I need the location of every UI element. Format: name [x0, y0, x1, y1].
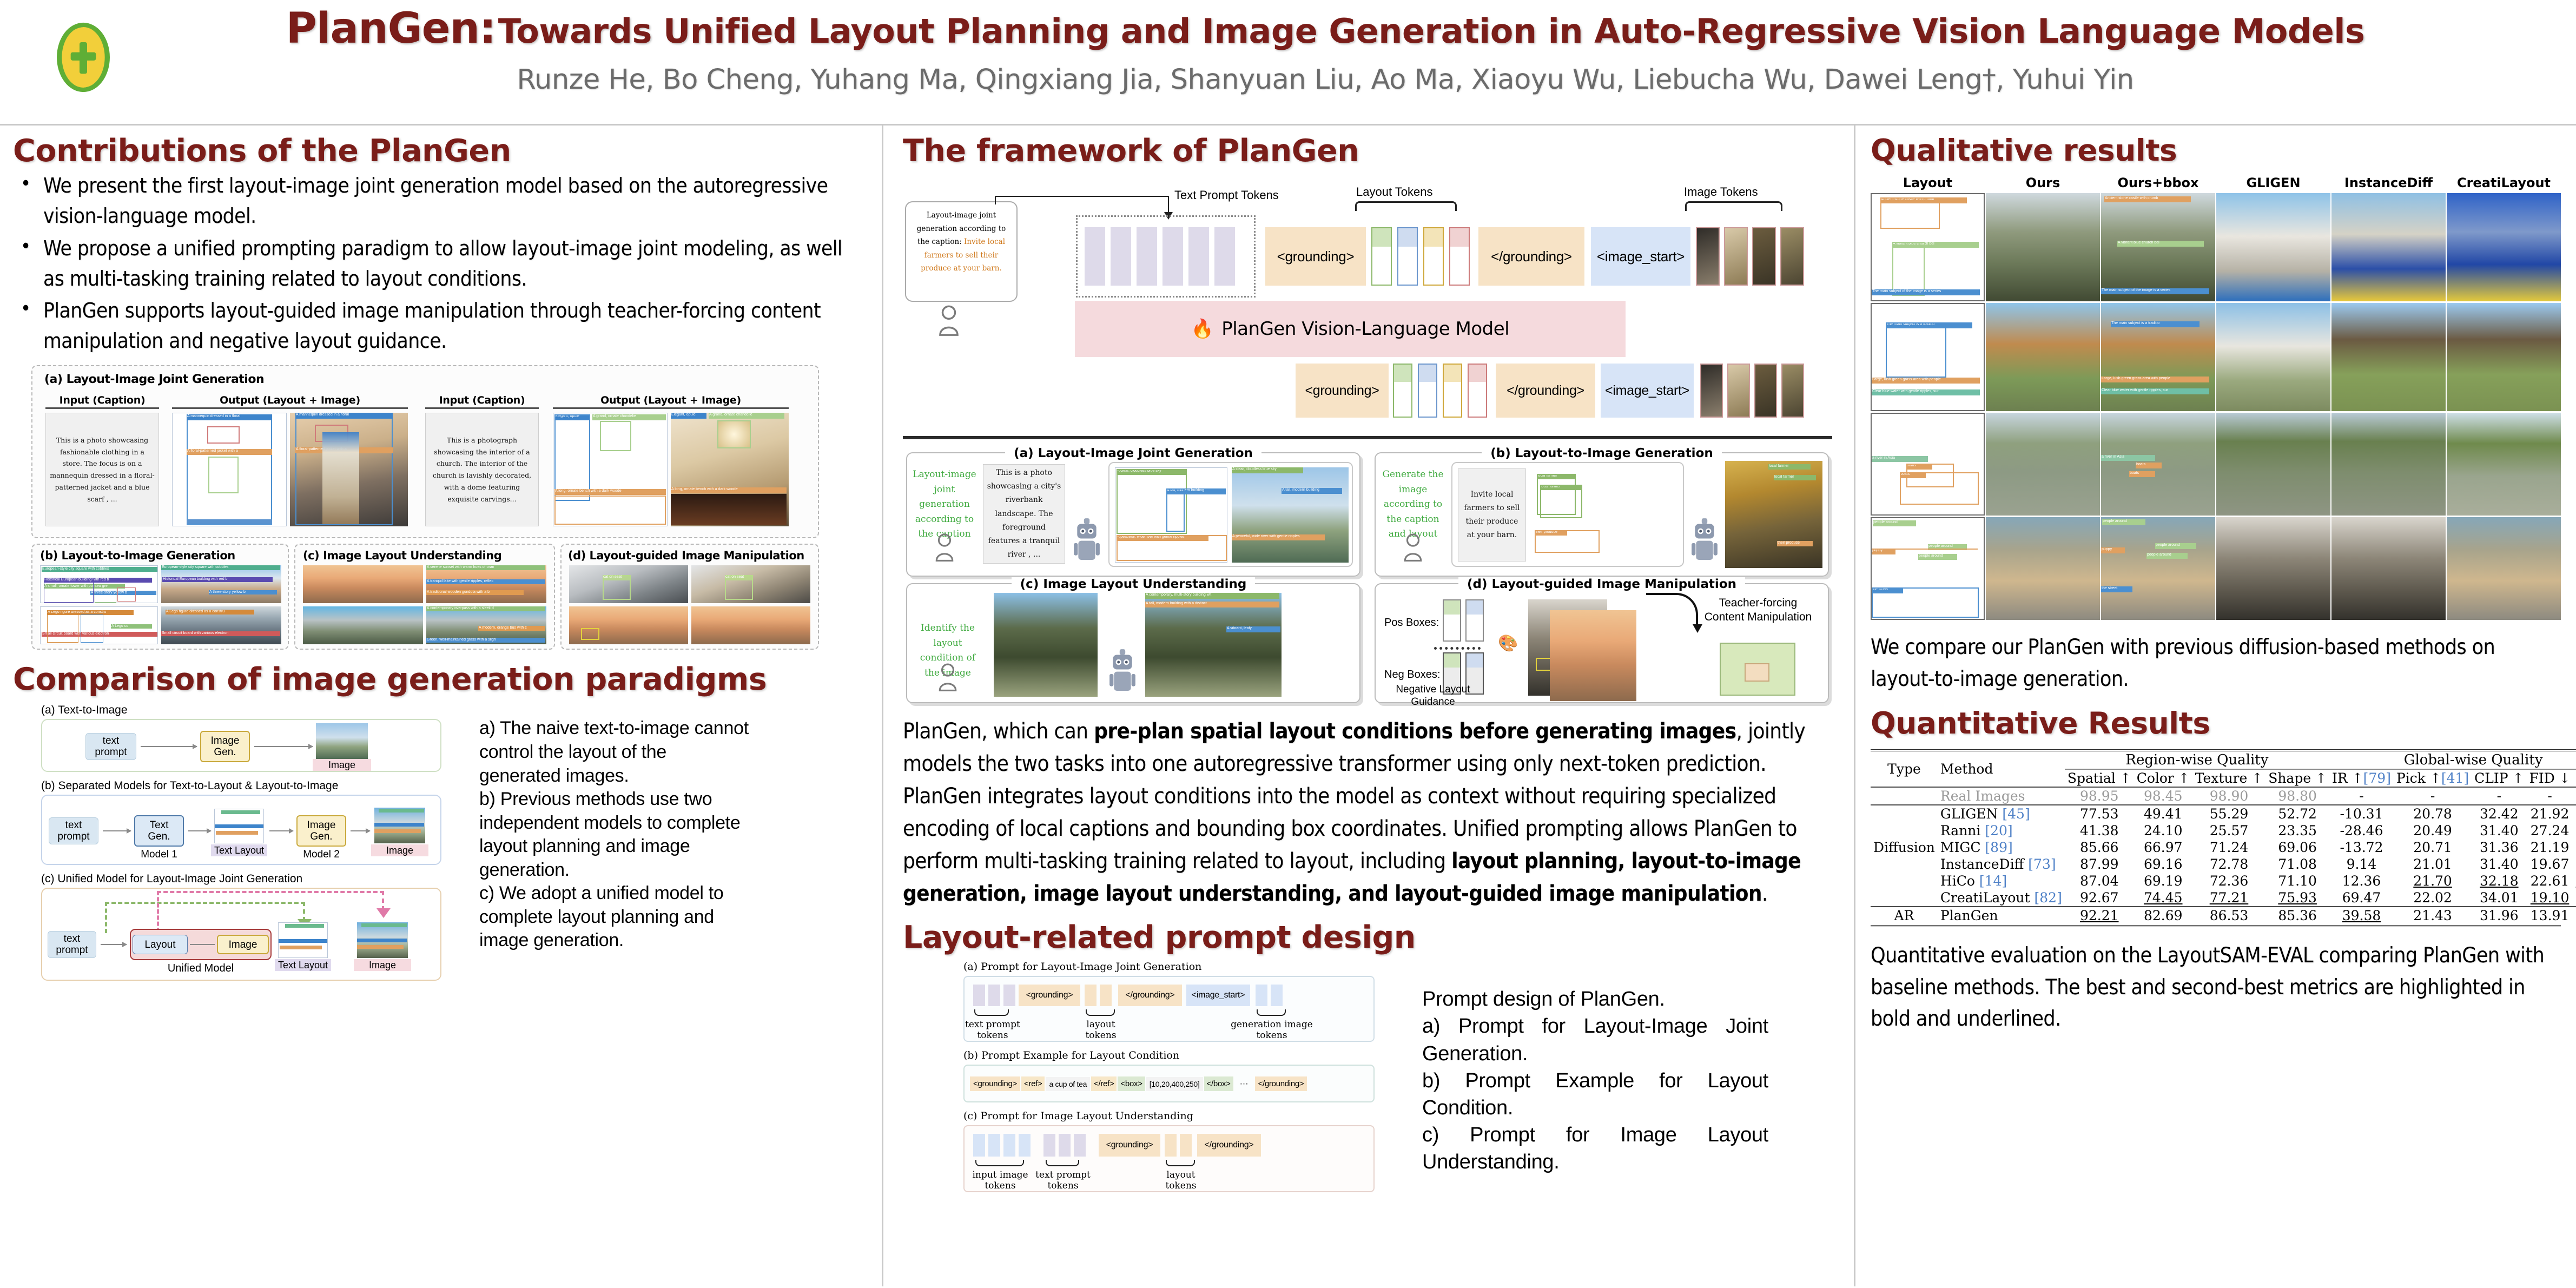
- framework-a-caption: This is a photo showcasing a city's rive…: [983, 464, 1065, 564]
- image-token-chips: [1696, 227, 1804, 286]
- tok-ref-text: a cup of tea: [1046, 1077, 1090, 1091]
- layout-tag: Clear blue water with gentle ripples, su…: [1872, 389, 1980, 395]
- text-prompt-box-b: text prompt: [49, 817, 98, 844]
- td-val: 87.04: [2065, 873, 2134, 889]
- td-val: 66.97: [2134, 839, 2192, 856]
- text-layout-preview-b: [214, 809, 264, 843]
- quantitative-table: Type Method Region-wise Quality Global-w…: [1871, 749, 2576, 924]
- prompt-bubble: Layout-image joint generation according …: [905, 201, 1018, 302]
- framework-c-input-image: [994, 593, 1098, 697]
- layout-tag: their produce: [1777, 541, 1813, 546]
- output-sequence-row: <grounding> </grounding> <image_start>: [903, 364, 1832, 424]
- td-val: 23.35: [2265, 822, 2329, 839]
- th-spatial: Spatial ↑: [2065, 769, 2134, 787]
- tok-grounding-close: </grounding>: [1255, 1076, 1307, 1091]
- generated-image-b2: A Lego figure dressed as a constru Small…: [161, 606, 281, 644]
- model-bar-label: PlanGen Vision-Language Model: [1221, 318, 1509, 340]
- td-val: 34.01: [2472, 889, 2526, 907]
- td-val: 21.43: [2394, 907, 2472, 924]
- td-val: 19.67: [2526, 856, 2573, 873]
- qualitative-col-headers: Layout Ours Ours+bbox GLIGEN InstanceDif…: [1871, 175, 2561, 190]
- layout-tag: Historical European building with red b: [162, 577, 273, 582]
- td-val: 69.06: [2265, 839, 2329, 856]
- td-val: -: [2394, 787, 2472, 805]
- td-val: 71.08: [2265, 856, 2329, 873]
- prompt-b-label: (b) Prompt Example for Layout Condition: [963, 1049, 1396, 1061]
- creatilayout-cell: [2447, 517, 2561, 620]
- td-val: 98.90: [2192, 787, 2265, 805]
- table-row: InstanceDiff [73]87.9969.1672.7871.089.1…: [1871, 856, 2576, 873]
- layout-token-chips: [1371, 227, 1470, 286]
- td-val: 71.24: [2192, 839, 2265, 856]
- source-image-d1: cat on seat: [569, 565, 688, 603]
- layout-tag: people around: [2102, 519, 2145, 525]
- layout-preview-b2: A Lego figure dressed as a constru A Leg…: [40, 606, 158, 644]
- td-method: InstanceDiff [73]: [1938, 856, 2065, 873]
- layout-tag: A tall, modern building with a distinct: [1145, 602, 1279, 607]
- qualitative-row: a river in Asia boats boats a river in A…: [1871, 413, 2561, 516]
- td-val: 20.02: [2573, 856, 2576, 873]
- image-token-chips-out: [1700, 364, 1804, 418]
- framework-panel-b: (b) Layout-to-Image Generation Generate …: [1375, 452, 1829, 577]
- col-header-input-2: Input (Caption): [422, 394, 542, 406]
- td-val: 19.31: [2573, 907, 2576, 924]
- model-bar: 🔥 PlanGen Vision-Language Model: [1075, 301, 1626, 357]
- layout-subbox: Layout: [133, 935, 188, 954]
- layout-cell: a river in Asia boats boats: [1871, 413, 1985, 516]
- plangen-logo-icon: [51, 19, 115, 95]
- framework-subpanels: (a) Layout-Image Joint Generation Layout…: [903, 436, 1832, 706]
- list-item: We propose a unified prompting paradigm …: [13, 234, 860, 294]
- prompt-c-label: (c) Prompt for Image Layout Understandin…: [963, 1110, 1396, 1122]
- td-val: 86.53: [2192, 907, 2265, 924]
- td-val: 20.15: [2573, 873, 2576, 889]
- image-tag-a: Image: [313, 759, 371, 771]
- layout-tag: A tall, modern building: [1282, 488, 1342, 494]
- tok-box-coords: [10,20,400,250]: [1146, 1077, 1203, 1091]
- grounding-open-chip-out: <grounding>: [1296, 364, 1389, 418]
- layout-preview-2: Elegant, opule A grand, ornate chandelie…: [553, 413, 668, 526]
- comparison-panel-b: text prompt Text Gen. Model 1 Text Layou…: [41, 795, 441, 865]
- col-header-input-1: Input (Caption): [42, 394, 162, 406]
- contributions-list: We present the first layout-image joint …: [13, 171, 860, 356]
- comparison-note-b: b) Previous methods use two independent …: [479, 788, 750, 882]
- framework-panel-c: (c) Image Layout Understanding Identify …: [906, 583, 1360, 703]
- model1-label: Model 1: [134, 849, 184, 861]
- layout-tag: A serene sunset with warm hues of oran: [426, 565, 545, 570]
- td-val: 20.57: [2573, 805, 2576, 822]
- qualitative-caption: We compare our PlanGen with previous dif…: [1871, 632, 2561, 695]
- caption-box-2: This is a photograph showcasing the inte…: [425, 413, 539, 526]
- td-type: AR: [1871, 907, 1938, 924]
- right-column: Qualitative results Layout Ours Ours+bbo…: [1855, 126, 2576, 1286]
- th-method: Method: [1938, 750, 2065, 787]
- poster-header: PlanGen: Towards Unified Layout Planning…: [0, 0, 2576, 126]
- framework-panel-a: (a) Layout-Image Joint Generation Layout…: [906, 452, 1360, 577]
- td-val: 9.14: [2329, 856, 2394, 873]
- framework-b-input: Invite local farmers to sell their produ…: [1451, 462, 1684, 567]
- table-row: CreatiLayout [82]92.6774.4577.2175.9369.…: [1871, 889, 2576, 907]
- table-row: HiCo [14]87.0469.1972.3671.1012.3621.703…: [1871, 873, 2576, 889]
- palette-icon: 🎨: [1498, 634, 1518, 653]
- td-val: -: [2573, 787, 2576, 805]
- td-val: 69.19: [2134, 873, 2192, 889]
- para-part-1: PlanGen, which can: [903, 719, 1094, 744]
- td-val: 71.10: [2265, 873, 2329, 889]
- annotated-image-c2: A contemporary overpass with a sleek d A…: [426, 606, 546, 644]
- table-row-plangen: ARPlanGen92.2182.6986.5385.3639.5821.433…: [1871, 907, 2576, 924]
- instancediff-cell: [2331, 193, 2446, 301]
- comparison-note-c: c) We adopt a unified model to complete …: [479, 882, 750, 953]
- layout-preview: A clear, cloudless blue sky A tall, mode…: [1115, 467, 1227, 563]
- user-avatar-icon: [1402, 533, 1424, 565]
- framework-a-output: A clear, cloudless blue sky A tall, mode…: [1108, 462, 1353, 567]
- image-start-chip: <image_start>: [1591, 227, 1690, 286]
- layout-tag: boats: [2136, 463, 2162, 468]
- layout-tag: puppy: [2101, 547, 2125, 553]
- layout-tag: The main subject of the image is a serie…: [2101, 288, 2209, 294]
- td-val: -28.46: [2329, 822, 2394, 839]
- td-val: 72.36: [2192, 873, 2265, 889]
- layout-token-chips-out: [1393, 364, 1487, 418]
- td-type: [1871, 805, 1938, 822]
- poster-title-subtitle: Towards Unified Layout Planning and Imag…: [498, 11, 2365, 51]
- layout-tag: A mannequin dressed in a floral: [187, 414, 272, 420]
- framework-heading: The framework of PlanGen: [903, 135, 1830, 167]
- table-row: Ranni [20]41.3824.1025.5723.35-28.4620.4…: [1871, 822, 2576, 839]
- td-val: 69.16: [2134, 856, 2192, 873]
- td-val: 22.04: [2573, 889, 2576, 907]
- prompt-design-heading: Layout-related prompt design: [903, 922, 1830, 953]
- prompt-c-brace-2: text prompt tokens: [1031, 1170, 1095, 1191]
- qual-col-header-layout: Layout: [1871, 175, 1985, 190]
- framework-b-caption: Invite local farmers to sell their produ…: [1458, 468, 1526, 562]
- th-clip: CLIP ↑: [2472, 769, 2526, 787]
- ours-bbox-cell: people around people around people aroun…: [2101, 517, 2215, 620]
- image-tag-c: Image: [354, 959, 411, 971]
- instancediff-cell: [2331, 413, 2446, 516]
- layout-tag: Green, well-maintained grass with a slig…: [426, 638, 545, 643]
- framework-panel-b-label: (b) Layout-to-Image Generation: [1482, 446, 1722, 460]
- table-group-header-row: Type Method Region-wise Quality Global-w…: [1871, 750, 2576, 769]
- text-prompt-box-a: text prompt: [85, 733, 136, 760]
- td-val: 39.58: [2329, 907, 2394, 924]
- text-layout-preview-c: [278, 922, 328, 958]
- annotated-image-c1: A serene sunset with warm hues of oran A…: [426, 565, 546, 603]
- framework-a-instruction: Layout-image joint generation according …: [913, 467, 976, 542]
- framework-figure: Layout-image joint generation according …: [903, 173, 1832, 706]
- source-image-d2: [569, 606, 688, 644]
- grounding-open-chip-c: <grounding>: [1099, 1134, 1160, 1157]
- framework-c-output-image: A contemporary, multi-story building wit…: [1145, 593, 1282, 697]
- output-image-a: [316, 723, 368, 759]
- image-subbox: Image: [217, 935, 269, 954]
- layout-tag: A grand, ornate chandelie: [592, 414, 666, 420]
- fire-icon: 🔥: [1191, 318, 1214, 340]
- prompt-design-section: (a) Prompt for Layout-Image Joint Genera…: [903, 961, 1831, 1188]
- th-is: IS ↑: [2573, 769, 2576, 787]
- image-start-chip: <image_start>: [1186, 985, 1250, 1006]
- caption-box-1: This is a photo showcasing fashionable c…: [45, 413, 159, 526]
- td-val: 49.41: [2134, 805, 2192, 822]
- generated-image: A clear, cloudless blue sky A tall, mode…: [1232, 467, 1349, 563]
- framework-d-result-image: [1550, 610, 1636, 701]
- td-val: 21.92: [2526, 805, 2573, 822]
- td-method: CreatiLayout [82]: [1938, 889, 2065, 907]
- prompt-a-label: (a) Prompt for Layout-Image Joint Genera…: [963, 961, 1396, 973]
- task-panel-c: (c) Image Layout Understanding A serene …: [294, 544, 555, 650]
- comparison-panel-c: text prompt Layout Image Unified Model T…: [41, 888, 441, 981]
- framework-panel-c-label: (c) Image Layout Understanding: [1012, 577, 1256, 591]
- td-type: [1871, 889, 1938, 907]
- neg-boxes-label: Neg Boxes:: [1384, 669, 1440, 681]
- para-part-5: .: [1762, 881, 1768, 906]
- th-group-region: Region-wise Quality: [2065, 750, 2329, 769]
- layout-tag: a river in Asia: [1872, 456, 1928, 462]
- para-part-2: pre-plan spatial layout conditions befor…: [1094, 719, 1736, 744]
- output-image-b: [374, 808, 425, 843]
- generated-image-1: A mannequin dressed in a floral A floral…: [290, 413, 408, 526]
- prompt-c-panel: <grounding> </grounding> input image tok…: [963, 1125, 1375, 1192]
- td-val: 31.40: [2472, 822, 2526, 839]
- td-type: [1871, 822, 1938, 839]
- manipulated-image-d1: cat on seat: [691, 565, 810, 603]
- label-layout-tokens: Layout Tokens: [1356, 185, 1432, 199]
- td-val: 74.45: [2134, 889, 2192, 907]
- layout-tag: A long, ornate bench with a dark woode: [671, 487, 787, 493]
- td-val: -: [2472, 787, 2526, 805]
- layout-tag: A grand, ornate chandelie: [709, 413, 784, 419]
- prompt-c-brace-3: layout tokens: [1152, 1170, 1210, 1191]
- td-val: 22.61: [2526, 873, 2573, 889]
- comparison-notes: a) The naive text-to-image cannot contro…: [479, 717, 750, 952]
- td-val: 82.69: [2134, 907, 2192, 924]
- contributions-heading: Contributions of the PlanGen: [13, 135, 860, 167]
- panel-a-label: (a) Layout-Image Joint Generation: [44, 373, 264, 386]
- poster-body: Contributions of the PlanGen We present …: [0, 126, 2576, 1286]
- image-gen-box-a: Image Gen.: [200, 731, 250, 762]
- comparison-heading: Comparison of image generation paradigms: [13, 664, 860, 695]
- pos-boxes-label: Pos Boxes:: [1384, 617, 1439, 629]
- instancediff-cell: [2331, 517, 2446, 620]
- td-val: 32.18: [2472, 873, 2526, 889]
- layout-tag: Elegant, opule: [671, 413, 706, 419]
- prompt-a-brace-1: text prompt tokens: [965, 1019, 1021, 1041]
- th-type: Type: [1871, 750, 1938, 787]
- col-header-output-2: Output (Layout + Image): [550, 394, 792, 406]
- comparison-figure: (a) Text-to-Image text prompt Image Gen.…: [41, 704, 458, 990]
- td-val: 13.91: [2526, 907, 2573, 924]
- grounding-close-chip-c: </grounding>: [1197, 1134, 1261, 1157]
- prompt-a-panel: <grounding> </grounding> <image_start> t…: [963, 976, 1375, 1042]
- td-val: 21.01: [2394, 856, 2472, 873]
- gligen-cell: [2216, 413, 2330, 516]
- qual-col-header-ours-bbox: Ours+bbox: [2101, 175, 2215, 190]
- td-val: 87.99: [2065, 856, 2134, 873]
- poster-title-main: PlanGen:: [286, 4, 496, 53]
- layout-tag: a river in Asia: [2101, 455, 2155, 461]
- layout-tag: boats: [2129, 471, 2155, 477]
- teacher-forcing-label: Teacher-forcing Content Manipulation: [1702, 596, 1814, 624]
- td-val: 98.45: [2134, 787, 2192, 805]
- layout-preview-b1: European-style city square with cobbles …: [40, 565, 158, 603]
- text-prompt-box-c: text prompt: [48, 931, 96, 958]
- comparison-panel-a: text prompt Image Gen. Image: [41, 719, 441, 772]
- layout-tag: cat on seat: [725, 575, 753, 580]
- layout-tag: A vibrant, leafy: [1226, 626, 1280, 632]
- td-val: 20.71: [2394, 839, 2472, 856]
- quantitative-caption: Quantitative evaluation on the LayoutSAM…: [1871, 940, 2561, 1035]
- comparison-c-label: (c) Unified Model for Layout-Image Joint…: [41, 873, 302, 886]
- poster-authors: Runze He, Bo Cheng, Yuhang Ma, Qingxiang…: [162, 64, 2488, 96]
- td-method: HiCo [14]: [1938, 873, 2065, 889]
- prompt-note-0: Prompt design of PlanGen.: [1422, 986, 1768, 1013]
- label-text-prompt-tokens: Text Prompt Tokens: [1174, 188, 1279, 202]
- layout-tag: A three-story yellow b: [209, 590, 277, 595]
- qual-col-header-ours: Ours: [1986, 175, 2100, 190]
- layout-cell: The main subject is a traditio Large, lu…: [1871, 303, 1985, 411]
- qualitative-heading: Qualitative results: [1871, 135, 2561, 166]
- gligen-cell: [2216, 303, 2330, 411]
- layout-tag: Ancient stone castle with crumb: [2104, 196, 2191, 202]
- layout-tag: people around: [1918, 554, 1957, 560]
- td-val: 98.95: [2065, 787, 2134, 805]
- tok-box-open: <box>: [1118, 1076, 1145, 1091]
- td-val: -: [2329, 787, 2394, 805]
- layout-preview-1: A mannequin dressed in a floral A floral…: [172, 413, 287, 526]
- unified-model-label: Unified Model: [130, 962, 272, 975]
- th-group-global: Global-wise Quality: [2329, 750, 2576, 769]
- col-header-output-1: Output (Layout + Image): [169, 394, 411, 406]
- task-panel-a: (a) Layout-Image Joint Generation Input …: [31, 365, 819, 538]
- th-pick: Pick ↑[41]: [2394, 769, 2472, 787]
- th-ir: IR ↑[79]: [2329, 769, 2394, 787]
- instancediff-cell: [2331, 303, 2446, 411]
- td-val: 32.42: [2472, 805, 2526, 822]
- td-val: 20.78: [2394, 805, 2472, 822]
- td-val: 77.21: [2192, 889, 2265, 907]
- text-gen-box-b: Text Gen.: [134, 815, 184, 847]
- layout-tag: A peaceful, wide river with gentle rippl…: [1232, 534, 1325, 540]
- th-shape: Shape ↑: [2265, 769, 2329, 787]
- td-method: PlanGen: [1938, 907, 2065, 924]
- prompt-design-notes: Prompt design of PlanGen. a) Prompt for …: [1422, 986, 1768, 1175]
- panel-d-label: (d) Layout-guided Image Manipulation: [568, 549, 804, 562]
- manipulated-image-d2: [691, 606, 810, 644]
- layout-tag: Large, lush green grass area with people: [2101, 377, 2209, 382]
- prompt-a-brace-2: layout tokens: [1073, 1019, 1129, 1041]
- pos-boxes-chips: [1443, 599, 1484, 642]
- qual-col-header-gligen: GLIGEN: [2216, 175, 2330, 190]
- layout-tag: A Lego co: [111, 624, 152, 629]
- image-start-chip-out: <image_start>: [1601, 364, 1694, 418]
- td-val: 19.65: [2573, 839, 2576, 856]
- ours-cell: [1986, 517, 2100, 620]
- framework-paragraph: PlanGen, which can pre-plan spatial layo…: [903, 715, 1829, 910]
- td-val: 22.02: [2394, 889, 2472, 907]
- layout-tag: people around: [2155, 543, 2196, 549]
- grounding-close-chip: </grounding>: [1478, 227, 1584, 286]
- layout-tag: people around: [1873, 520, 1916, 526]
- list-item: We present the first layout-image joint …: [13, 171, 860, 232]
- td-val: 85.66: [2065, 839, 2134, 856]
- framework-b-output-image: local farmer local farmer their produce: [1725, 461, 1822, 568]
- input-image-c1: [303, 565, 423, 603]
- user-avatar-icon: [936, 305, 961, 335]
- tok-box-close: </box>: [1204, 1076, 1233, 1091]
- layout-tag: Large, lush green grass area with people: [1872, 378, 1980, 384]
- td-val: 21.70: [2394, 873, 2472, 889]
- layout-tag: cat on seat: [603, 575, 631, 580]
- td-type: [1871, 873, 1938, 889]
- table-body-ar: ARPlanGen92.2182.6986.5385.3639.5821.433…: [1871, 907, 2576, 924]
- layout-preview: local farmer local farmer their produce: [1533, 468, 1640, 562]
- table-row: DiffusionMIGC [89]85.6666.9771.2469.06-1…: [1871, 839, 2576, 856]
- qualitative-row: The main subject is a traditio Large, lu…: [1871, 303, 2561, 411]
- td-val: 19.10: [2526, 889, 2573, 907]
- creatilayout-cell: [2447, 193, 2561, 301]
- grounding-open-chip: <grounding>: [1019, 985, 1080, 1006]
- th-fid: FID ↓: [2526, 769, 2573, 787]
- layout-tag: The main subject is a traditio: [2111, 321, 2199, 327]
- creatilayout-cell: [2447, 303, 2561, 411]
- prompt-c-brace-1: input image tokens: [966, 1170, 1035, 1191]
- th-texture: Texture ↑: [2192, 769, 2265, 787]
- comparison-note-a: a) The naive text-to-image cannot contro…: [479, 717, 750, 788]
- layout-tag: European-style city square with cobbles: [161, 565, 280, 570]
- td-method: Ranni [20]: [1938, 822, 2065, 839]
- td-val: 27.24: [2526, 822, 2573, 839]
- qualitative-row: people around people around people aroun…: [1871, 517, 2561, 620]
- layout-tag: A clear, cloudless blue sky: [1232, 467, 1303, 473]
- layout-tag: European-style city square with cobbles: [42, 567, 157, 572]
- framework-panel-a-label: (a) Layout-Image Joint Generation: [1005, 446, 1261, 460]
- prompt-b-panel: <grounding> <ref> a cup of tea </ref> <b…: [963, 1065, 1375, 1102]
- qualitative-row: Ancient stone castle with crumb A vibran…: [1871, 193, 2561, 301]
- tok-grounding-open: <grounding>: [970, 1076, 1020, 1091]
- grounding-open-chip: <grounding>: [1265, 227, 1366, 286]
- layout-tag: A Lego figure dressed as a constru: [166, 610, 254, 615]
- tasks-figure: (a) Layout-Image Joint Generation Input …: [31, 365, 843, 652]
- tok-ref-open: <ref>: [1021, 1076, 1045, 1091]
- td-method: Real Images: [1938, 787, 2065, 805]
- middle-column: The framework of PlanGen Layout-image jo…: [882, 126, 1855, 1286]
- framework-panel-d: (d) Layout-guided Image Manipulation Pos…: [1375, 583, 1829, 703]
- td-val: 12.36: [2329, 873, 2394, 889]
- creatilayout-cell: [2447, 413, 2561, 516]
- gligen-cell: [2216, 517, 2330, 620]
- model2-label: Model 2: [296, 849, 346, 861]
- user-avatar-icon: [933, 533, 956, 565]
- task-panel-b: (b) Layout-to-Image Generation European-…: [31, 544, 289, 650]
- prompt-note-a: a) Prompt for Layout-Image Joint Generat…: [1422, 1013, 1768, 1067]
- list-item: PlanGen supports layout-guided image man…: [13, 296, 860, 356]
- prompt-note-b: b) Prompt Example for Layout Condition.: [1422, 1067, 1768, 1121]
- comparison-section: (a) Text-to-Image text prompt Image Gen.…: [13, 704, 857, 996]
- layout-tag: A long, ornate bench with a dark woode: [554, 489, 666, 495]
- ours-cell: [1986, 193, 2100, 301]
- layout-tag: local farmer: [1774, 475, 1816, 480]
- layout-tag: A vibrant blue church bel: [2117, 241, 2204, 247]
- panel-c-label: (c) Image Layout Understanding: [303, 549, 501, 562]
- table-row-real-images: Real Images 98.95 98.45 98.90 98.80 - - …: [1871, 787, 2576, 805]
- td-val: 31.96: [2472, 907, 2526, 924]
- robot-icon: [1690, 517, 1719, 562]
- td-val: 41.38: [2065, 822, 2134, 839]
- robot-icon: [1073, 517, 1101, 562]
- td-val: 55.29: [2192, 805, 2265, 822]
- framework-d-manip-box: [1720, 643, 1795, 696]
